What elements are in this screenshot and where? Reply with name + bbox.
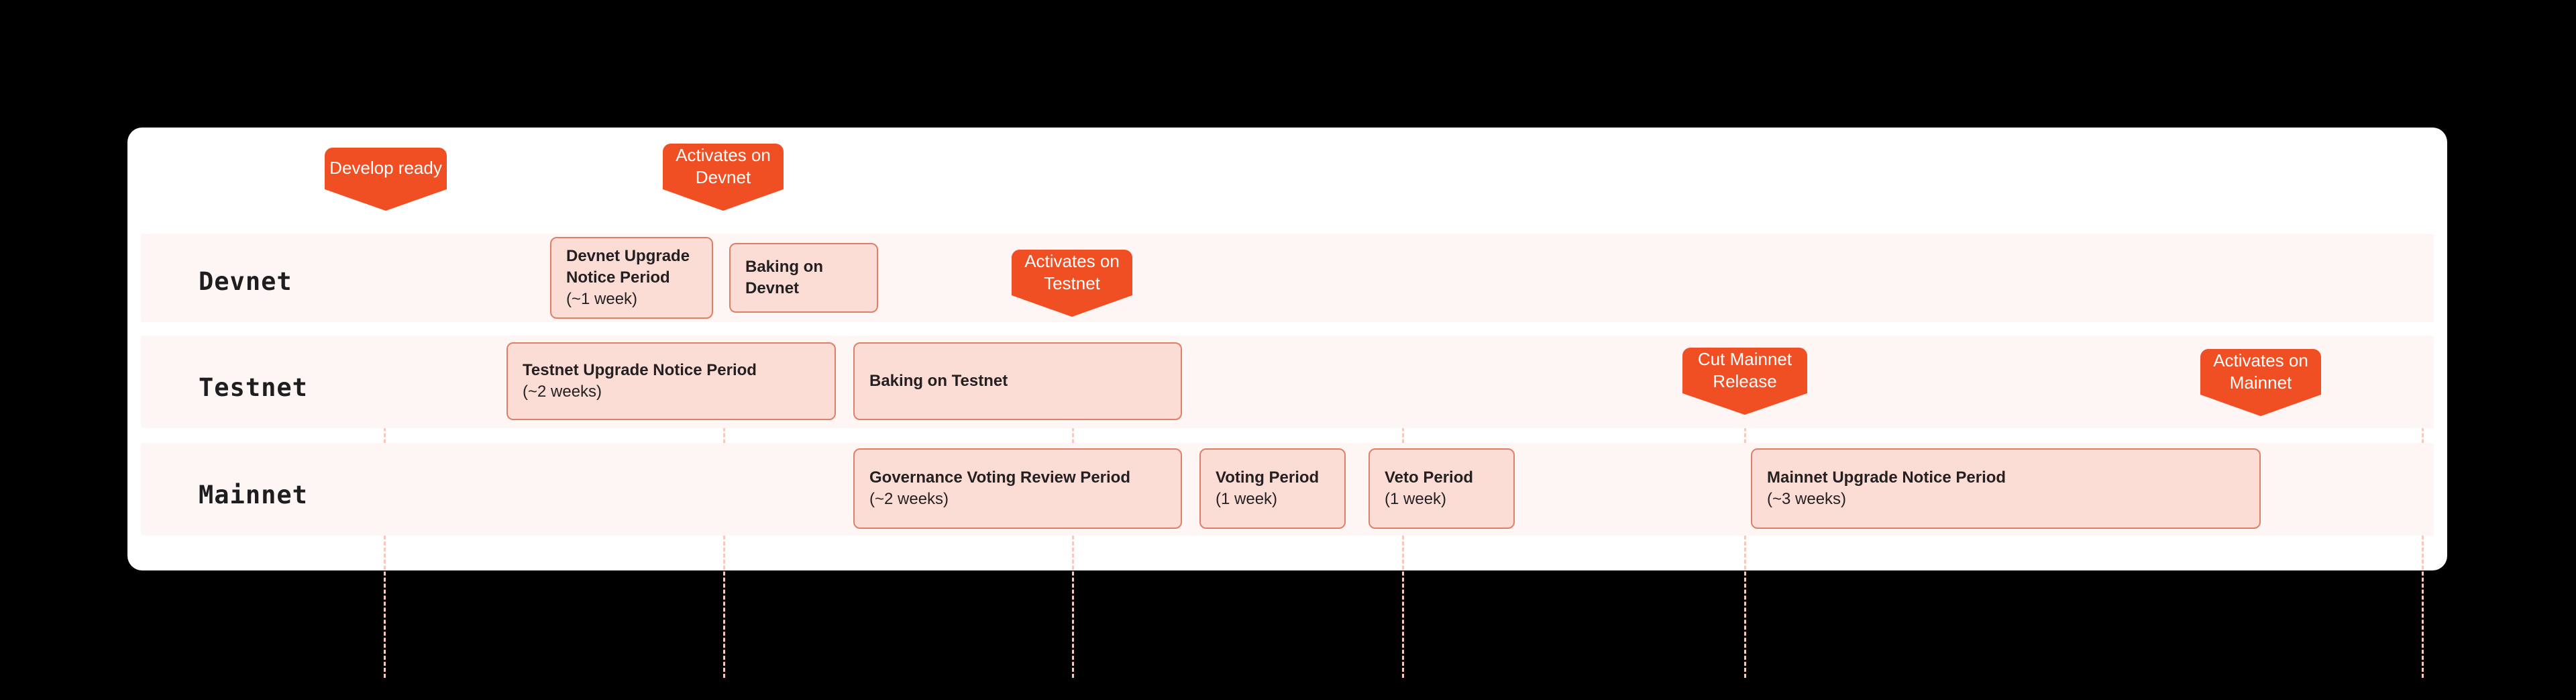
period-duration: (~3 weeks) (1767, 489, 2245, 510)
period-testnet-upgrade-notice[interactable]: Testnet Upgrade Notice Period (~2 weeks) (506, 342, 836, 420)
milestone-line-1: Develop ready (329, 157, 442, 179)
period-duration: (~2 weeks) (523, 381, 820, 403)
period-baking-on-devnet[interactable]: Baking on Devnet (729, 243, 878, 313)
milestone-activates-on-devnet[interactable]: Activates on Devnet (663, 144, 784, 211)
period-veto[interactable]: Veto Period (1 week) (1368, 448, 1515, 529)
milestone-line-1: Activates on (676, 144, 771, 166)
milestone-develop-ready[interactable]: Develop ready (325, 148, 447, 211)
milestone-activates-on-testnet[interactable]: Activates on Testnet (1012, 250, 1132, 317)
period-governance-voting-review[interactable]: Governance Voting Review Period (~2 week… (853, 448, 1182, 529)
period-title: Mainnet Upgrade Notice Period (1767, 467, 2245, 489)
milestone-line-2: Release (1713, 370, 1776, 393)
milestone-line-2: Testnet (1044, 272, 1100, 295)
row-band-testnet (141, 336, 2434, 428)
row-label-devnet: Devnet (199, 267, 292, 296)
flag-pointer-icon (2200, 395, 2321, 416)
row-label-mainnet: Mainnet (199, 481, 308, 509)
period-title: Testnet Upgrade Notice Period (523, 360, 820, 381)
milestone-activates-on-mainnet[interactable]: Activates on Mainnet (2200, 349, 2321, 416)
row-band-devnet (141, 234, 2434, 322)
flag-pointer-icon (1682, 393, 1807, 415)
period-title: Baking on Testnet (869, 370, 1166, 392)
milestone-line-1: Activates on (1024, 250, 1120, 272)
row-label-testnet: Testnet (199, 373, 308, 402)
milestone-line-2: Devnet (696, 166, 751, 189)
period-voting[interactable]: Voting Period (1 week) (1199, 448, 1346, 529)
period-title: Veto Period (1385, 467, 1499, 489)
period-title: Devnet Upgrade Notice Period (566, 246, 697, 289)
period-baking-on-testnet[interactable]: Baking on Testnet (853, 342, 1182, 420)
period-title: Governance Voting Review Period (869, 467, 1166, 489)
flag-pointer-icon (1012, 295, 1132, 317)
period-title: Voting Period (1216, 467, 1330, 489)
timeline-card: Devnet Testnet Mainnet Devnet Upgrade No… (127, 128, 2447, 570)
milestone-cut-mainnet-release[interactable]: Cut Mainnet Release (1682, 348, 1807, 415)
flag-pointer-icon (325, 189, 447, 211)
milestone-line-1: Activates on (2213, 350, 2308, 372)
period-duration: (1 week) (1216, 489, 1330, 510)
period-duration: (1 week) (1385, 489, 1499, 510)
period-duration: (~1 week) (566, 289, 697, 310)
flag-pointer-icon (663, 189, 784, 211)
milestone-line-2: Mainnet (2230, 372, 2292, 394)
period-devnet-upgrade-notice[interactable]: Devnet Upgrade Notice Period (~1 week) (550, 237, 713, 319)
period-mainnet-upgrade-notice[interactable]: Mainnet Upgrade Notice Period (~3 weeks) (1751, 448, 2261, 529)
period-title: Baking on Devnet (745, 256, 862, 299)
period-duration: (~2 weeks) (869, 489, 1166, 510)
milestone-line-1: Cut Mainnet (1698, 348, 1792, 370)
